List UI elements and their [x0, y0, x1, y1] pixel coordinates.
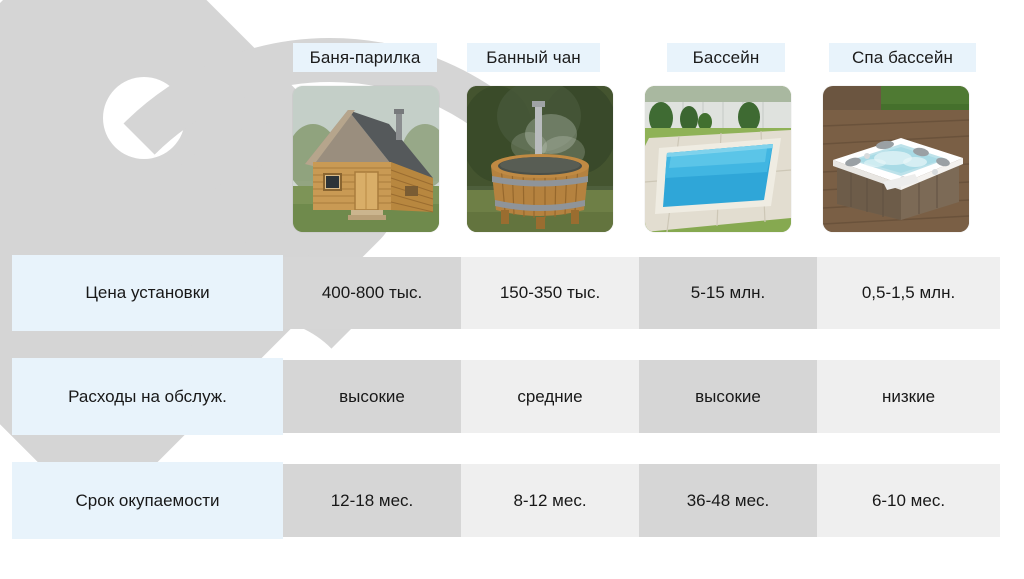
cell-value: высокие — [695, 387, 761, 407]
row-label-text: Цена установки — [85, 283, 209, 303]
cell-r0c1: 150-350 тыс. — [461, 257, 639, 329]
row-label-text: Расходы на обслуж. — [68, 387, 227, 407]
column-header-label: Баня-парилка — [310, 48, 421, 68]
comparison-table: Баня-парилка Банный чан Бассейн Спа басс… — [0, 0, 1024, 579]
cell-value: 5-15 млн. — [691, 283, 765, 303]
wooden-hot-tub-photo — [467, 86, 613, 232]
column-header-2: Бассейн — [667, 43, 785, 72]
cell-value: 8-12 мес. — [513, 491, 586, 511]
cell-value: 150-350 тыс. — [500, 283, 600, 303]
cell-r0c3: 0,5-1,5 млн. — [817, 257, 1000, 329]
cell-r1c0: высокие — [283, 360, 461, 433]
cell-r1c2: высокие — [639, 360, 817, 433]
column-header-label: Банный чан — [486, 48, 581, 68]
cell-r1c1: средние — [461, 360, 639, 433]
cell-value: 6-10 мес. — [872, 491, 945, 511]
cell-value: низкие — [882, 387, 935, 407]
cell-value: 36-48 мес. — [687, 491, 770, 511]
row-label-2: Срок окупаемости — [12, 462, 283, 539]
cell-value: средние — [517, 387, 582, 407]
cell-value: высокие — [339, 387, 405, 407]
swimming-pool-photo — [645, 86, 791, 232]
cell-r0c0: 400-800 тыс. — [283, 257, 461, 329]
cell-value: 12-18 мес. — [331, 491, 414, 511]
row-label-0: Цена установки — [12, 255, 283, 331]
cell-r2c3: 6-10 мес. — [817, 464, 1000, 537]
cell-value: 0,5-1,5 млн. — [862, 283, 955, 303]
cell-value: 400-800 тыс. — [322, 283, 422, 303]
column-header-0: Баня-парилка — [293, 43, 437, 72]
spa-hot-tub-photo — [823, 86, 969, 232]
cell-r2c1: 8-12 мес. — [461, 464, 639, 537]
cell-r1c3: низкие — [817, 360, 1000, 433]
column-header-label: Спа бассейн — [852, 48, 953, 68]
log-sauna-cabin-photo — [293, 86, 439, 232]
column-header-1: Банный чан — [467, 43, 600, 72]
row-label-text: Срок окупаемости — [76, 491, 220, 511]
cell-r2c0: 12-18 мес. — [283, 464, 461, 537]
column-header-3: Спа бассейн — [829, 43, 976, 72]
row-label-1: Расходы на обслуж. — [12, 358, 283, 435]
column-header-label: Бассейн — [693, 48, 760, 68]
cell-r2c2: 36-48 мес. — [639, 464, 817, 537]
cell-r0c2: 5-15 млн. — [639, 257, 817, 329]
